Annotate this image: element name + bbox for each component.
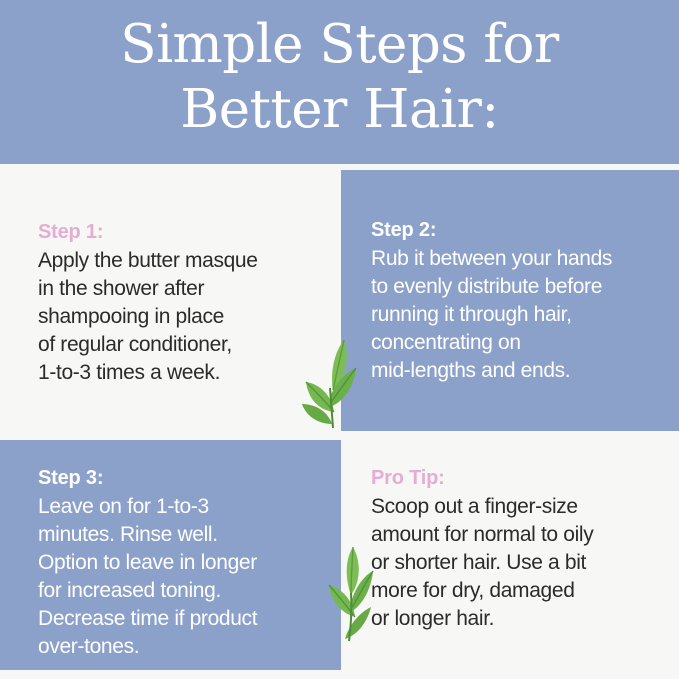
text-line: to evenly distribute before (371, 273, 679, 301)
text-line: amount for normal to oily (371, 521, 671, 549)
pro-tip-text: Scoop out a finger-size amount for norma… (371, 493, 671, 633)
text-line: more for dry, damaged (371, 577, 671, 605)
text-line: in the shower after (38, 275, 323, 303)
text-line: for increased toning. (38, 577, 338, 605)
step-3-text: Leave on for 1-to-3 minutes. Rinse well.… (38, 493, 338, 661)
text-line: Leave on for 1-to-3 (38, 493, 338, 521)
panel-pro-tip-body: Pro Tip: Scoop out a finger-size amount … (371, 464, 671, 633)
step-1-text: Apply the butter masque in the shower af… (38, 247, 323, 387)
text-line: shampooing in place (38, 303, 323, 331)
panel-pro-tip: Pro Tip: Scoop out a finger-size amount … (341, 434, 679, 679)
text-line: mid-lengths and ends. (371, 357, 679, 385)
text-line: Scoop out a finger-size (371, 493, 671, 521)
step-1-heading: Step 1: (38, 218, 323, 246)
panel-step-3-body: Step 3: Leave on for 1-to-3 minutes. Rin… (38, 464, 338, 661)
step-3-heading: Step 3: (38, 464, 338, 492)
text-line: Option to leave in longer (38, 549, 338, 577)
panel-step-1: Step 1: Apply the butter masque in the s… (0, 164, 335, 430)
pro-tip-heading: Pro Tip: (371, 464, 671, 492)
panel-step-3: Step 3: Leave on for 1-to-3 minutes. Rin… (0, 440, 341, 670)
text-line: 1-to-3 times a week. (38, 359, 323, 387)
text-line: minutes. Rinse well. (38, 521, 338, 549)
text-line: Apply the butter masque (38, 247, 323, 275)
text-line: Rub it between your hands (371, 245, 679, 273)
text-line: Decrease time if product (38, 605, 338, 633)
text-line: running it through hair, (371, 301, 679, 329)
panel-step-1-body: Step 1: Apply the butter masque in the s… (38, 218, 323, 387)
poster-header: Simple Steps for Better Hair: (0, 0, 679, 164)
page-title-line-2: Better Hair: (0, 77, 679, 142)
text-line: concentrating on (371, 329, 679, 357)
instruction-poster: Simple Steps for Better Hair: Step 1: Ap… (0, 0, 679, 679)
text-line: or longer hair. (371, 605, 671, 633)
panel-step-2: Step 2: Rub it between your hands to eve… (341, 170, 679, 431)
text-line: or shorter hair. Use a bit (371, 549, 671, 577)
text-line: over-tones. (38, 633, 338, 661)
panel-step-2-body: Step 2: Rub it between your hands to eve… (371, 216, 679, 385)
page-title-line-1: Simple Steps for (0, 12, 679, 77)
text-line: of regular conditioner, (38, 331, 323, 359)
step-2-heading: Step 2: (371, 216, 679, 244)
step-2-text: Rub it between your hands to evenly dist… (371, 245, 679, 385)
header-title-block: Simple Steps for Better Hair: (0, 12, 679, 142)
